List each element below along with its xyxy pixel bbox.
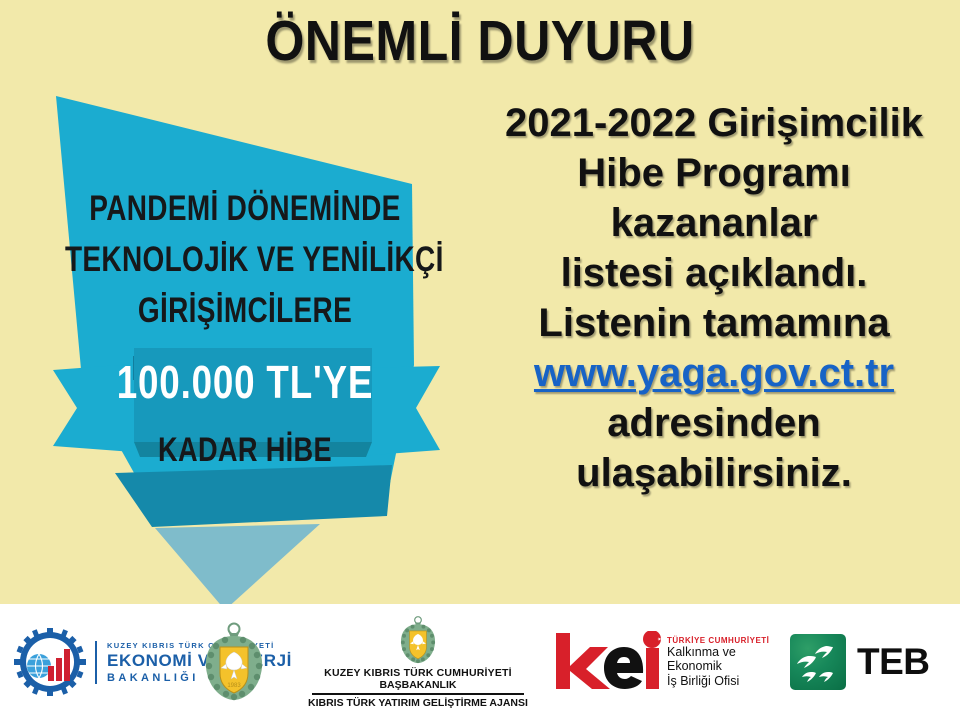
announcement-line-4: listesi açıklandı. — [468, 248, 960, 298]
poster-canvas: ÖNEMLİ DUYURU PANDEMİ DÖNEMİNDE TEKNOLO — [0, 0, 960, 720]
svg-text:1983: 1983 — [227, 683, 241, 689]
kei-line-4: İş Birliği Ofisi — [667, 674, 769, 689]
gear-globe-chart-icon — [14, 628, 86, 696]
announcement-line-3: kazananlar — [468, 198, 960, 248]
grant-poster-graphic: PANDEMİ DÖNEMİNDE TEKNOLOJİK VE YENİLİKÇ… — [20, 80, 470, 610]
sponsor-logo-bar: KUZEY KIBRIS TÜRK CUMHURİYETİ EKONOMİ VE… — [0, 604, 960, 720]
flying-stars-icon — [790, 634, 846, 690]
ribbon-band — [134, 348, 372, 442]
bubble-tail — [155, 524, 320, 610]
announcement-text: 2021-2022 Girişimcilik Hibe Programı kaz… — [468, 98, 960, 498]
agency-line-1: KUZEY KIBRIS TÜRK CUMHURİYETİ — [324, 667, 512, 679]
announcement-line-7: ulaşabilirsiniz. — [468, 448, 960, 498]
kei-line-3: Ekonomik — [667, 659, 769, 674]
page-title: ÖNEMLİ DUYURU — [58, 8, 903, 74]
agency-line-3: KIBRIS TÜRK YATIRIM GELİŞTİRME AJANSI — [308, 697, 528, 709]
ribbon-band-shadow — [134, 442, 372, 457]
speech-bubble-shape — [20, 80, 470, 610]
announcement-line-2: Hibe Programı — [468, 148, 960, 198]
agency-line-2: BAŞBAKANLIK — [379, 679, 456, 691]
logo-teb: TEB — [790, 604, 930, 720]
coat-of-arms-icon: 1983 — [196, 621, 272, 703]
announcement-line-6: adresinden — [468, 398, 960, 448]
kei-letters-icon — [552, 631, 662, 693]
website-link[interactable]: www.yaga.gov.ct.tr — [534, 351, 894, 395]
announcement-line-1: 2021-2022 Girişimcilik — [468, 98, 960, 148]
kei-subtext: TÜRKİYE CUMHURİYETİ Kalkınma ve Ekonomik… — [667, 636, 769, 689]
teb-stars-mark — [790, 634, 846, 690]
kei-line-1: TÜRKİYE CUMHURİYETİ — [667, 636, 769, 645]
bubble-lower-fold — [115, 465, 392, 527]
logo-kei: TÜRKİYE CUMHURİYETİ Kalkınma ve Ekonomik… — [552, 604, 769, 720]
teb-wordmark: TEB — [857, 641, 930, 683]
announcement-line-5: Listenin tamamına — [468, 298, 960, 348]
kei-wordmark — [552, 631, 662, 693]
coat-of-arms-icon — [395, 615, 441, 665]
kei-line-2: Kalkınma ve — [667, 645, 769, 660]
agency-divider — [312, 693, 524, 694]
logo-investment-agency: KUZEY KIBRIS TÜRK CUMHURİYETİ BAŞBAKANLI… — [308, 604, 528, 720]
logo-trnc-coat-of-arms: 1983 — [196, 604, 272, 720]
ribbon-left-tail — [53, 364, 133, 452]
